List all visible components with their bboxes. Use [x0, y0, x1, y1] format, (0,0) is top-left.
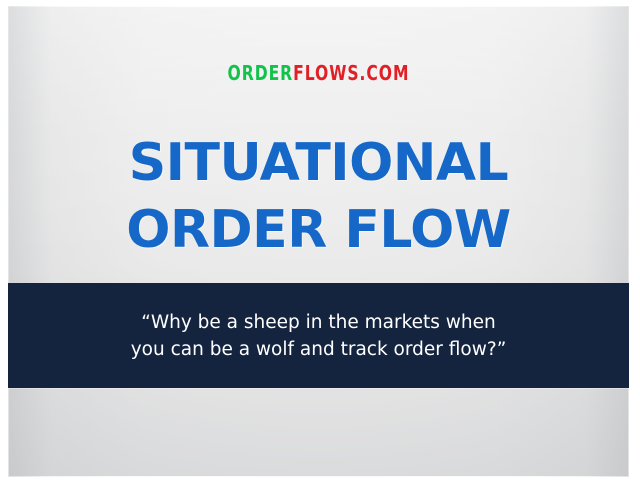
quote-banner: “Why be a sheep in the markets when you …	[8, 283, 629, 388]
title-line-2: ORDER FLOW	[8, 197, 629, 264]
brand-logo: ORDERFLOWS.COM	[76, 63, 560, 84]
quote-line-2: you can be a wolf and track order flow?”	[42, 336, 595, 363]
slide-footer-area	[8, 388, 629, 477]
presentation-slide: ORDERFLOWS.COM SITUATIONAL ORDER FLOW “W…	[8, 6, 629, 477]
quote-line-1: “Why be a sheep in the markets when	[42, 309, 595, 336]
quote-banner-inner: “Why be a sheep in the markets when you …	[8, 309, 629, 363]
brand-logo-flows-text: FLOWS.COM	[293, 61, 409, 85]
title-line-1: SITUATIONAL	[8, 130, 629, 197]
page-title: SITUATIONAL ORDER FLOW	[8, 130, 629, 264]
slide-canvas: ORDERFLOWS.COM SITUATIONAL ORDER FLOW “W…	[0, 0, 640, 482]
brand-logo-order-text: ORDER	[228, 61, 294, 85]
